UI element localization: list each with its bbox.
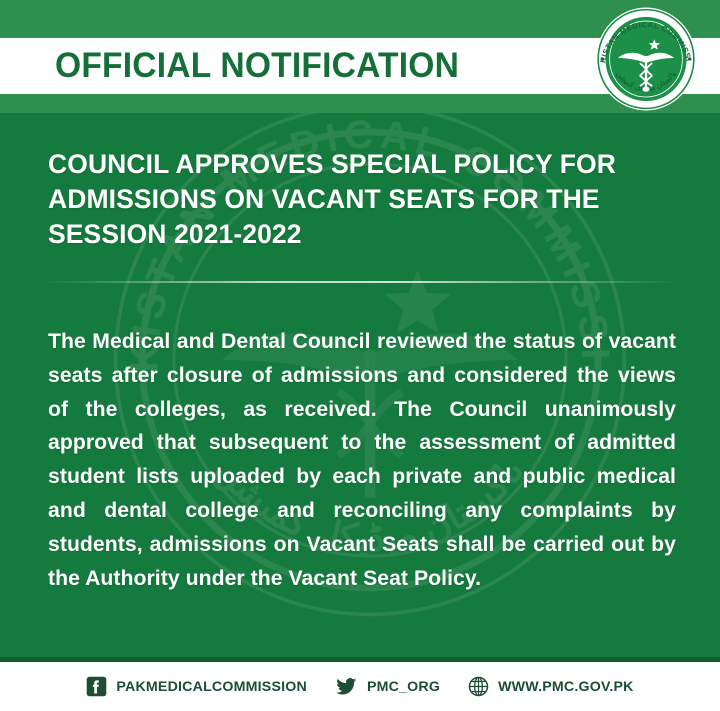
footer-website-label: WWW.PMC.GOV.PK <box>498 679 633 695</box>
pakistan-medical-commission-seal-icon: PAKISTAN MEDICAL COMMISSION پاکستان میڈی… <box>594 7 698 111</box>
footer-facebook[interactable]: PAKMEDICALCOMMISSION <box>86 676 307 697</box>
notification-content: COUNCIL APPROVES SPECIAL POLICY FOR ADMI… <box>0 113 720 657</box>
footer-website[interactable]: WWW.PMC.GOV.PK <box>468 676 633 697</box>
facebook-icon <box>86 676 107 697</box>
footer-twitter-label: PMC_ORG <box>367 679 440 695</box>
notification-headline: COUNCIL APPROVES SPECIAL POLICY FOR ADMI… <box>48 147 673 252</box>
footer-twitter[interactable]: PMC_ORG <box>335 676 440 697</box>
footer-bar: PAKMEDICALCOMMISSION PMC_ORG WWW.PMC.GOV… <box>0 662 720 711</box>
page-title: OFFICIAL NOTIFICATION <box>55 46 459 86</box>
twitter-icon <box>335 676 358 697</box>
globe-icon <box>468 676 489 697</box>
notification-body: The Medical and Dental Council reviewed … <box>48 325 676 596</box>
section-divider <box>40 281 680 283</box>
footer-facebook-label: PAKMEDICALCOMMISSION <box>116 679 307 695</box>
notification-poster: PAKISTAN MEDICAL COMMISSION پاکستان میڈی… <box>0 0 720 711</box>
